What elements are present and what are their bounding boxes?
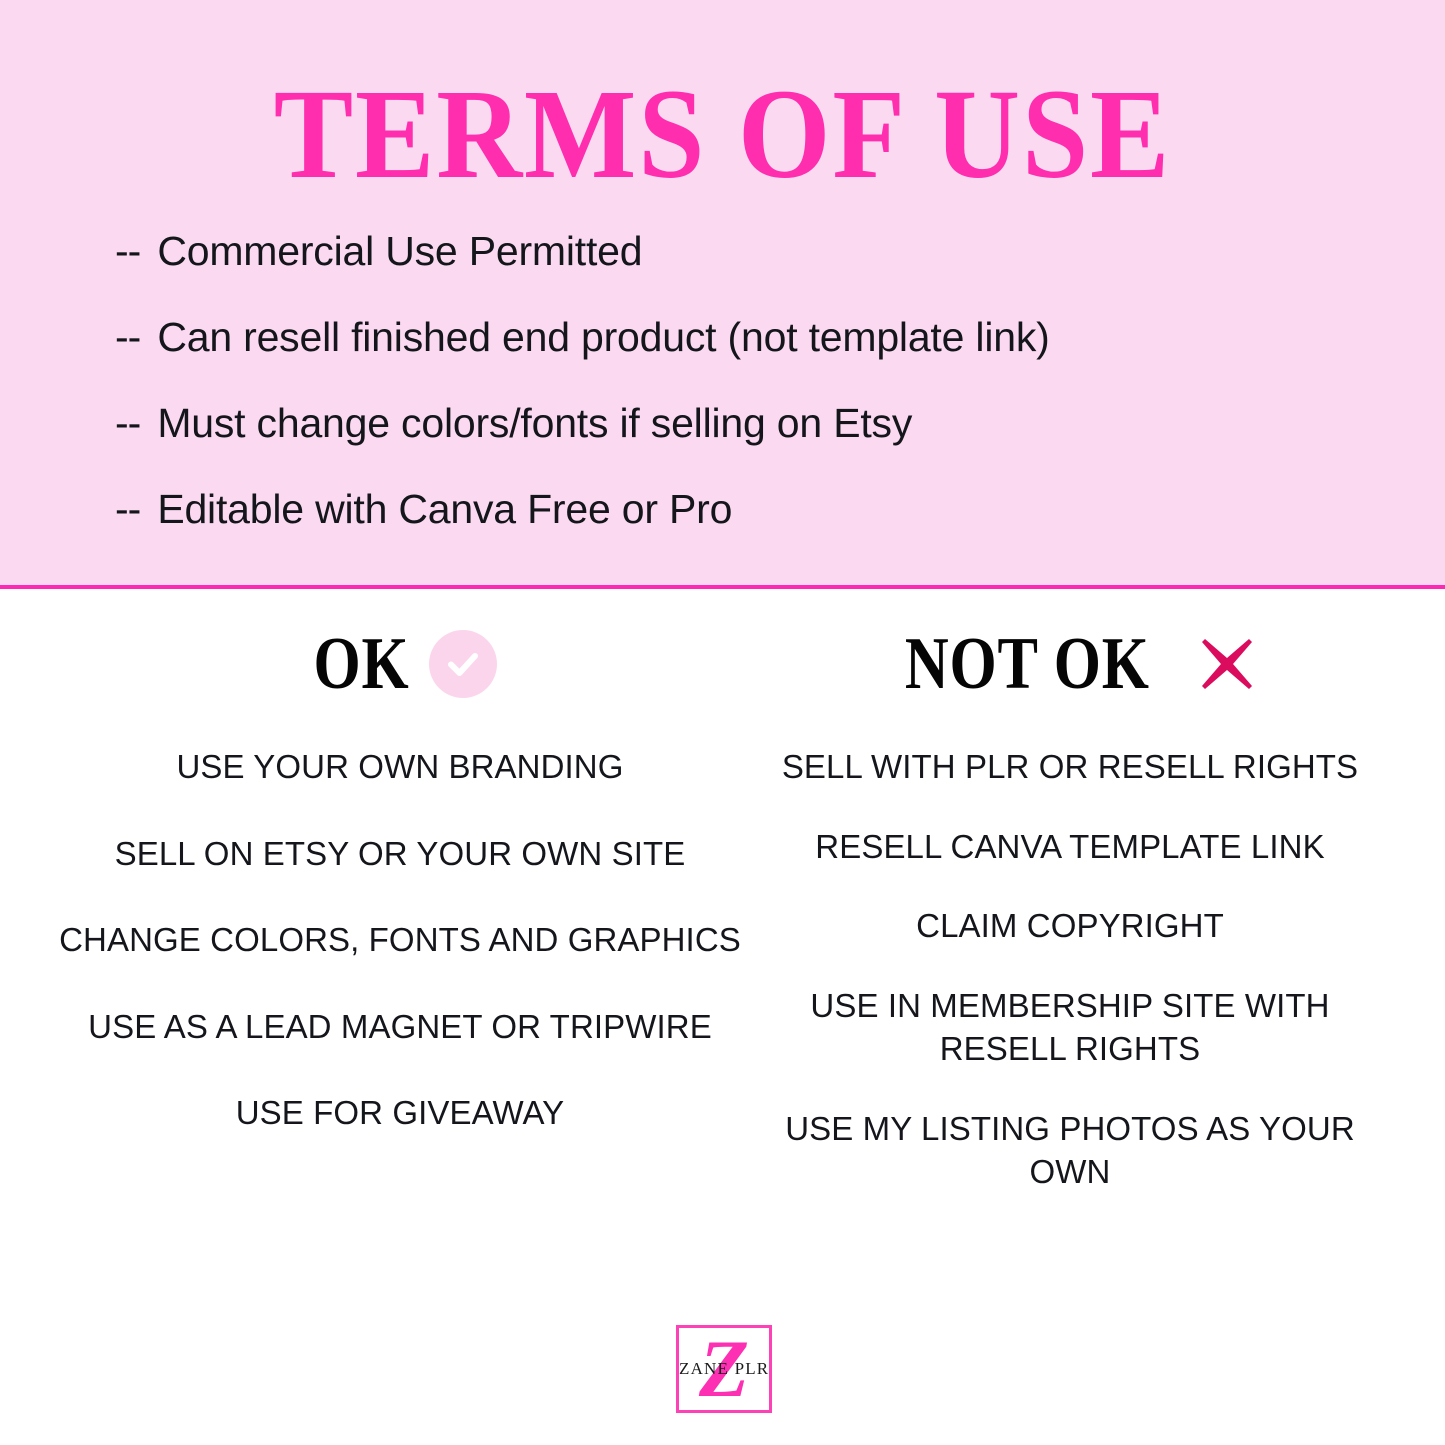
- not-ok-column-header: NOT OK: [760, 589, 1380, 739]
- permissions-columns: OK USE YOUR OWN BRANDING SELL ON ETSY OR…: [0, 589, 1445, 1249]
- terms-list-item: -- Must change colors/fonts if selling o…: [115, 400, 1365, 486]
- ok-column: OK USE YOUR OWN BRANDING SELL ON ETSY OR…: [55, 589, 745, 1178]
- ok-items-list: USE YOUR OWN BRANDING SELL ON ETSY OR YO…: [55, 739, 745, 1135]
- ok-list-item: USE AS A LEAD MAGNET OR TRIPWIRE: [55, 1005, 745, 1049]
- dash-bullet-icon: --: [115, 228, 140, 275]
- logo-wordmark: ZANE PLR: [679, 1359, 769, 1379]
- terms-list-item: -- Editable with Canva Free or Pro: [115, 486, 1365, 572]
- terms-list-item-label: Commercial Use Permitted: [157, 228, 642, 275]
- not-ok-column: NOT OK SELL WITH PLR OR RESELL RIGHTS RE…: [760, 589, 1380, 1230]
- not-ok-list-item: SELL WITH PLR OR RESELL RIGHTS: [760, 745, 1380, 789]
- terms-of-use-page: TERMS OF USE -- Commercial Use Permitted…: [0, 0, 1445, 1445]
- ok-heading-label: OK: [314, 627, 410, 701]
- brand-logo: Z ZANE PLR: [676, 1325, 772, 1413]
- dash-bullet-icon: --: [115, 486, 140, 533]
- dash-bullet-icon: --: [115, 314, 140, 361]
- ok-list-item: USE FOR GIVEAWAY: [55, 1091, 745, 1135]
- terms-list-item-label: Editable with Canva Free or Pro: [157, 486, 732, 533]
- terms-panel: TERMS OF USE -- Commercial Use Permitted…: [0, 0, 1445, 587]
- not-ok-items-list: SELL WITH PLR OR RESELL RIGHTS RESELL CA…: [760, 739, 1380, 1194]
- check-circle-icon: [429, 630, 497, 698]
- not-ok-list-item: USE MY LISTING PHOTOS AS YOUR OWN: [760, 1107, 1380, 1194]
- brand-logo-inner: Z ZANE PLR: [679, 1328, 769, 1410]
- not-ok-heading-label: NOT OK: [905, 627, 1150, 701]
- terms-list-item-label: Must change colors/fonts if selling on E…: [157, 400, 912, 447]
- page-title: TERMS OF USE: [51, 70, 1395, 198]
- not-ok-list-item: RESELL CANVA TEMPLATE LINK: [760, 825, 1380, 869]
- dash-bullet-icon: --: [115, 400, 140, 447]
- not-ok-list-item: USE IN MEMBERSHIP SITE WITH RESELL RIGHT…: [760, 984, 1380, 1071]
- terms-list-item: -- Commercial Use Permitted: [115, 228, 1365, 314]
- not-ok-list-item: CLAIM COPYRIGHT: [760, 904, 1380, 948]
- terms-list-item: -- Can resell finished end product (not …: [115, 314, 1365, 400]
- ok-list-item: USE YOUR OWN BRANDING: [55, 745, 745, 789]
- x-mark-icon: [1192, 629, 1262, 699]
- terms-list: -- Commercial Use Permitted -- Can resel…: [115, 228, 1365, 572]
- terms-list-item-label: Can resell finished end product (not tem…: [157, 314, 1049, 361]
- ok-list-item: SELL ON ETSY OR YOUR OWN SITE: [55, 832, 745, 876]
- ok-list-item: CHANGE COLORS, FONTS AND GRAPHICS: [55, 918, 745, 962]
- ok-column-header: OK: [55, 589, 745, 739]
